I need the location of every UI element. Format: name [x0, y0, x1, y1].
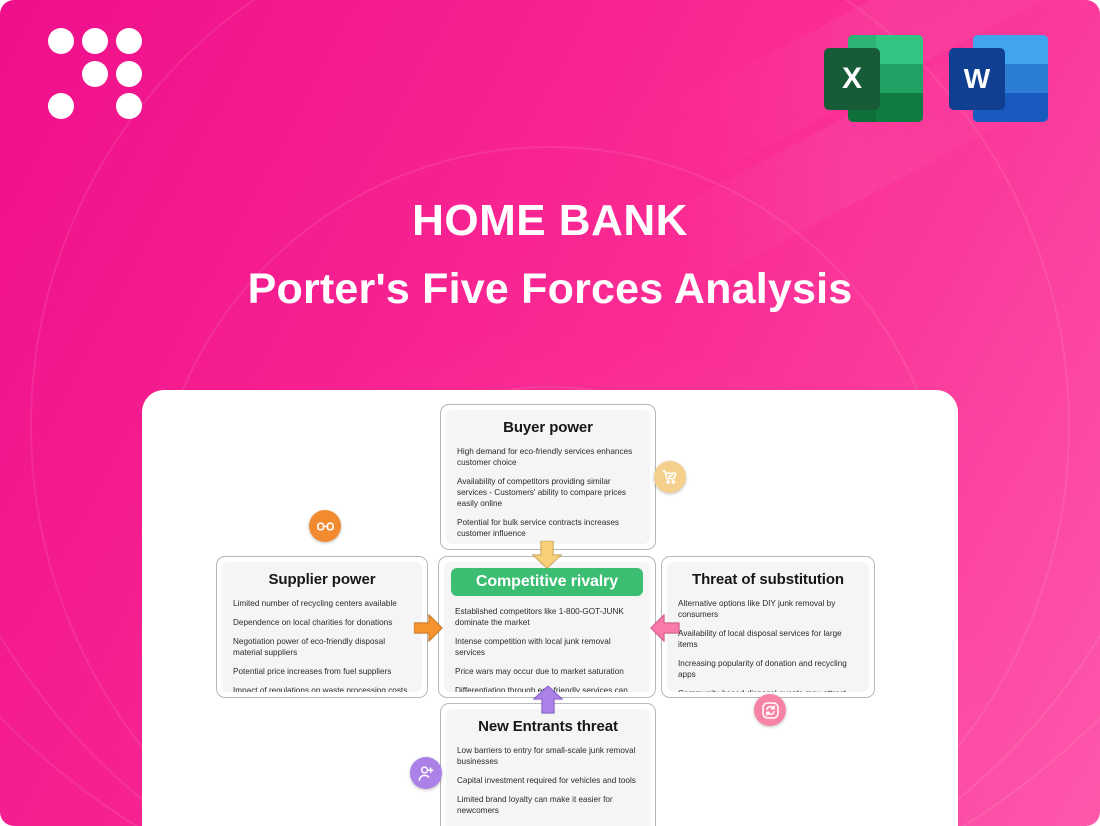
force-title-entrants: New Entrants threat	[457, 718, 639, 735]
list-item: Availability of local disposal services …	[678, 628, 858, 650]
force-box-entrants-inner: New Entrants threat Low barriers to entr…	[446, 709, 650, 826]
list-item: Alternative options like DIY junk remova…	[678, 598, 858, 620]
force-title-supplier: Supplier power	[233, 571, 411, 588]
list-item: Limited number of recycling centers avai…	[233, 598, 411, 609]
force-list-rivalry: Established competitors like 1-800-GOT-J…	[455, 606, 639, 692]
force-box-rivalry-inner: Competitive rivalry Established competit…	[444, 562, 650, 692]
force-box-rivalry[interactable]: Competitive rivalry Established competit…	[438, 556, 656, 698]
refresh-substitute-icon[interactable]	[754, 694, 786, 726]
logo-dot	[116, 93, 142, 119]
force-list-supplier: Limited number of recycling centers avai…	[233, 598, 411, 692]
logo-dot	[48, 28, 74, 54]
logo-gap	[82, 93, 108, 119]
list-item: Dependence on local charities for donati…	[233, 617, 411, 628]
list-item: Impact of regulations on waste processin…	[233, 685, 411, 692]
list-item: Community-based disposal events may attr…	[678, 688, 858, 692]
force-box-buyer-inner: Buyer power High demand for eco-friendly…	[446, 410, 650, 544]
force-list-buyer: High demand for eco-friendly services en…	[457, 446, 639, 544]
title-block: HOME BANK Porter's Five Forces Analysis	[0, 196, 1100, 314]
porters-five-forces-diagram: Buyer power High demand for eco-friendly…	[142, 390, 958, 826]
force-title-threat: Threat of substitution	[678, 571, 858, 588]
word-letter-tile: W	[949, 48, 1005, 110]
force-title-rivalry: Competitive rivalry	[451, 568, 643, 596]
list-item: Availability of competitors providing si…	[457, 476, 639, 509]
list-item: Potential for bulk service contracts inc…	[457, 517, 639, 539]
logo-dot	[116, 28, 142, 54]
page-title: Porter's Five Forces Analysis	[0, 265, 1100, 314]
force-box-threat-of-substitution[interactable]: Threat of substitution Alternative optio…	[661, 556, 875, 698]
chain-link-icon[interactable]	[309, 510, 341, 542]
arrow-threat-to-rivalry	[650, 614, 680, 642]
list-item: Capital investment required for vehicles…	[457, 775, 639, 786]
word-icon[interactable]: W	[949, 26, 1048, 122]
diagram-card: Buyer power High demand for eco-friendly…	[142, 390, 958, 826]
list-item: Established competitors like 1-800-GOT-J…	[455, 606, 639, 628]
logo-dot	[48, 93, 74, 119]
list-item: Low barriers to entry for small-scale ju…	[457, 745, 639, 767]
list-item: Potential price increases from fuel supp…	[233, 666, 411, 677]
list-item: Negotiation power of eco-friendly dispos…	[233, 636, 411, 658]
force-box-supplier-inner: Supplier power Limited number of recycli…	[222, 562, 422, 692]
force-box-threat-inner: Threat of substitution Alternative optio…	[667, 562, 869, 692]
force-list-threat: Alternative options like DIY junk remova…	[678, 598, 858, 692]
logo-dot	[82, 28, 108, 54]
excel-letter-tile: X	[824, 48, 880, 110]
poster-page: X W HOME BANK Porter's Five Forces Analy…	[0, 0, 1100, 826]
logo-dot	[82, 61, 108, 87]
force-title-buyer: Buyer power	[457, 419, 639, 436]
list-item: Limited brand loyalty can make it easier…	[457, 794, 639, 816]
office-icons-group: X W	[824, 26, 1048, 122]
force-list-entrants: Low barriers to entry for small-scale ju…	[457, 745, 639, 826]
add-user-icon[interactable]	[410, 757, 442, 789]
shopping-cart-icon[interactable]	[654, 461, 686, 493]
dot-grid-logo-icon	[48, 28, 144, 120]
force-box-buyer[interactable]: Buyer power High demand for eco-friendly…	[440, 404, 656, 550]
logo-dot	[116, 61, 142, 87]
force-box-supplier[interactable]: Supplier power Limited number of recycli…	[216, 556, 428, 698]
list-item: Increasing popularity of donation and re…	[678, 658, 858, 680]
list-item: High demand for eco-friendly services en…	[457, 446, 639, 468]
excel-icon[interactable]: X	[824, 26, 923, 122]
logo-gap	[48, 61, 74, 87]
company-title: HOME BANK	[0, 196, 1100, 247]
force-box-new-entrants[interactable]: New Entrants threat Low barriers to entr…	[440, 703, 656, 826]
arrow-entrants-to-rivalry	[533, 686, 563, 714]
list-item: Price wars may occur due to market satur…	[455, 666, 639, 677]
arrow-buyer-to-rivalry	[532, 541, 562, 569]
arrow-supplier-to-rivalry	[414, 614, 444, 642]
list-item: Intense competition with local junk remo…	[455, 636, 639, 658]
